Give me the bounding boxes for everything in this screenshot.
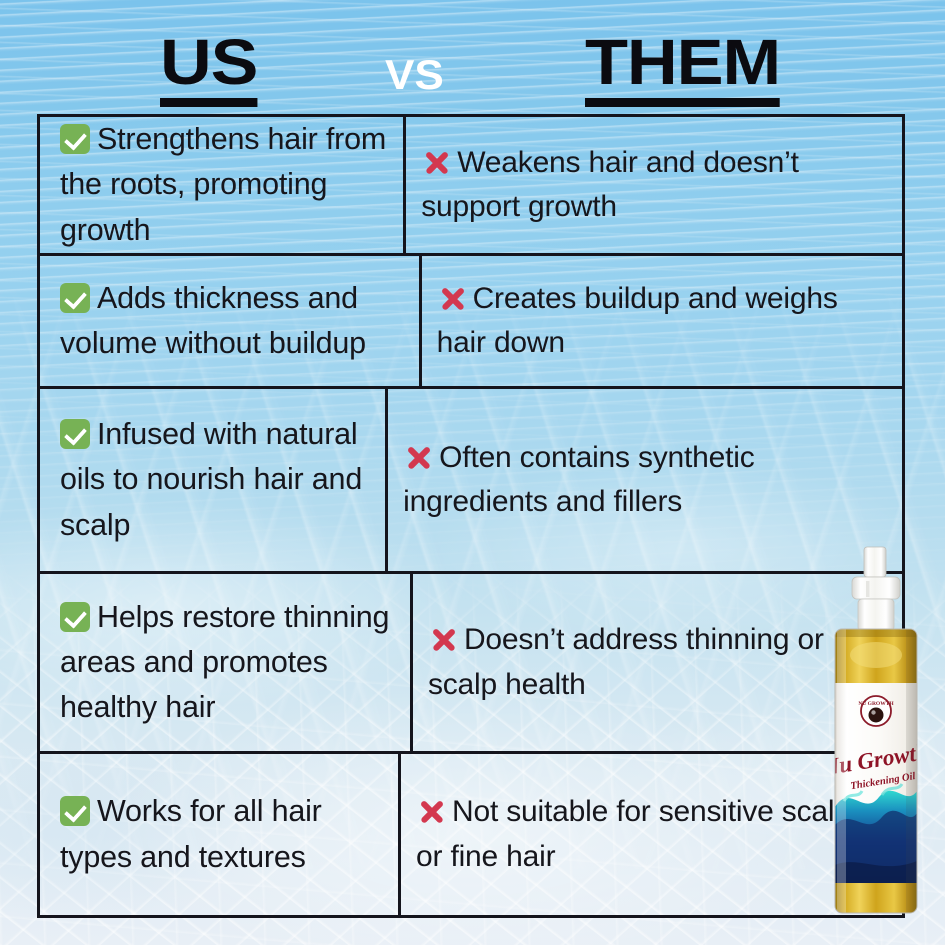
- us-cell: Infused with natural oils to nourish hai…: [40, 389, 388, 571]
- us-cell-text: Strengthens hair from the roots, promoti…: [60, 122, 386, 246]
- header-us-underline: [160, 98, 257, 107]
- check-icon: [60, 283, 90, 313]
- us-cell: Helps restore thinning areas and promote…: [40, 574, 413, 751]
- header-vs-label: VS: [385, 51, 444, 98]
- them-cell: Not suitable for sensitive scalps or fin…: [401, 754, 902, 915]
- table-row: Works for all hair types and textures No…: [40, 754, 902, 915]
- them-cell-content: Creates buildup and weighs hair down: [437, 277, 888, 366]
- them-cell: Weakens hair and doesn’t support growth: [406, 117, 902, 253]
- header-us-label: US: [160, 26, 257, 98]
- x-icon: [416, 796, 447, 827]
- them-cell-text: Doesn’t address thinning or scalp health: [428, 623, 824, 700]
- x-icon: [428, 624, 459, 655]
- x-icon: [421, 147, 452, 178]
- us-cell-text: Works for all hair types and textures: [60, 794, 322, 873]
- table-row: Helps restore thinning areas and promote…: [40, 574, 902, 754]
- check-icon: [60, 124, 90, 154]
- them-cell-content: Not suitable for sensitive scalps or fin…: [416, 790, 888, 879]
- us-cell: Adds thickness and volume without buildu…: [40, 256, 422, 386]
- us-cell-text: Adds thickness and volume without buildu…: [60, 281, 366, 360]
- us-cell-content: Adds thickness and volume without buildu…: [60, 276, 409, 366]
- x-icon: [437, 283, 468, 314]
- check-icon: [60, 796, 90, 826]
- them-cell-text: Creates buildup and weighs hair down: [437, 282, 838, 359]
- us-cell-content: Helps restore thinning areas and promote…: [60, 595, 400, 730]
- x-icon: [403, 442, 434, 473]
- header-vs: VS: [385, 54, 444, 96]
- check-icon: [60, 602, 90, 632]
- them-cell: Often contains synthetic ingredients and…: [388, 389, 902, 571]
- poster-header: US VS THEM: [0, 24, 945, 106]
- them-cell: Doesn’t address thinning or scalp health: [413, 574, 902, 751]
- table-row: Adds thickness and volume without buildu…: [40, 256, 902, 389]
- us-cell-text: Infused with natural oils to nourish hai…: [60, 417, 362, 541]
- us-cell: Works for all hair types and textures: [40, 754, 401, 915]
- us-cell-content: Strengthens hair from the roots, promoti…: [60, 117, 393, 252]
- them-cell-content: Often contains synthetic ingredients and…: [403, 436, 888, 525]
- table-row: Infused with natural oils to nourish hai…: [40, 389, 902, 574]
- us-cell-content: Infused with natural oils to nourish hai…: [60, 412, 375, 547]
- them-cell: Creates buildup and weighs hair down: [422, 256, 902, 386]
- header-them-underline: [585, 98, 780, 107]
- comparison-table: Strengthens hair from the roots, promoti…: [37, 114, 905, 918]
- us-cell-text: Helps restore thinning areas and promote…: [60, 600, 389, 724]
- comparison-poster: US VS THEM Strengthens hair from the roo…: [0, 0, 945, 945]
- table-row: Strengthens hair from the roots, promoti…: [40, 117, 902, 256]
- header-them-label: THEM: [585, 26, 780, 98]
- them-cell-content: Doesn’t address thinning or scalp health: [428, 618, 888, 707]
- header-them: THEM: [585, 30, 780, 107]
- them-cell-text: Weakens hair and doesn’t support growth: [421, 146, 799, 223]
- them-cell-text: Not suitable for sensitive scalps or fin…: [416, 795, 866, 872]
- us-cell-content: Works for all hair types and textures: [60, 789, 388, 879]
- check-icon: [60, 419, 90, 449]
- them-cell-content: Weakens hair and doesn’t support growth: [421, 141, 888, 230]
- header-us: US: [160, 30, 257, 107]
- them-cell-text: Often contains synthetic ingredients and…: [403, 441, 754, 518]
- us-cell: Strengthens hair from the roots, promoti…: [40, 117, 406, 253]
